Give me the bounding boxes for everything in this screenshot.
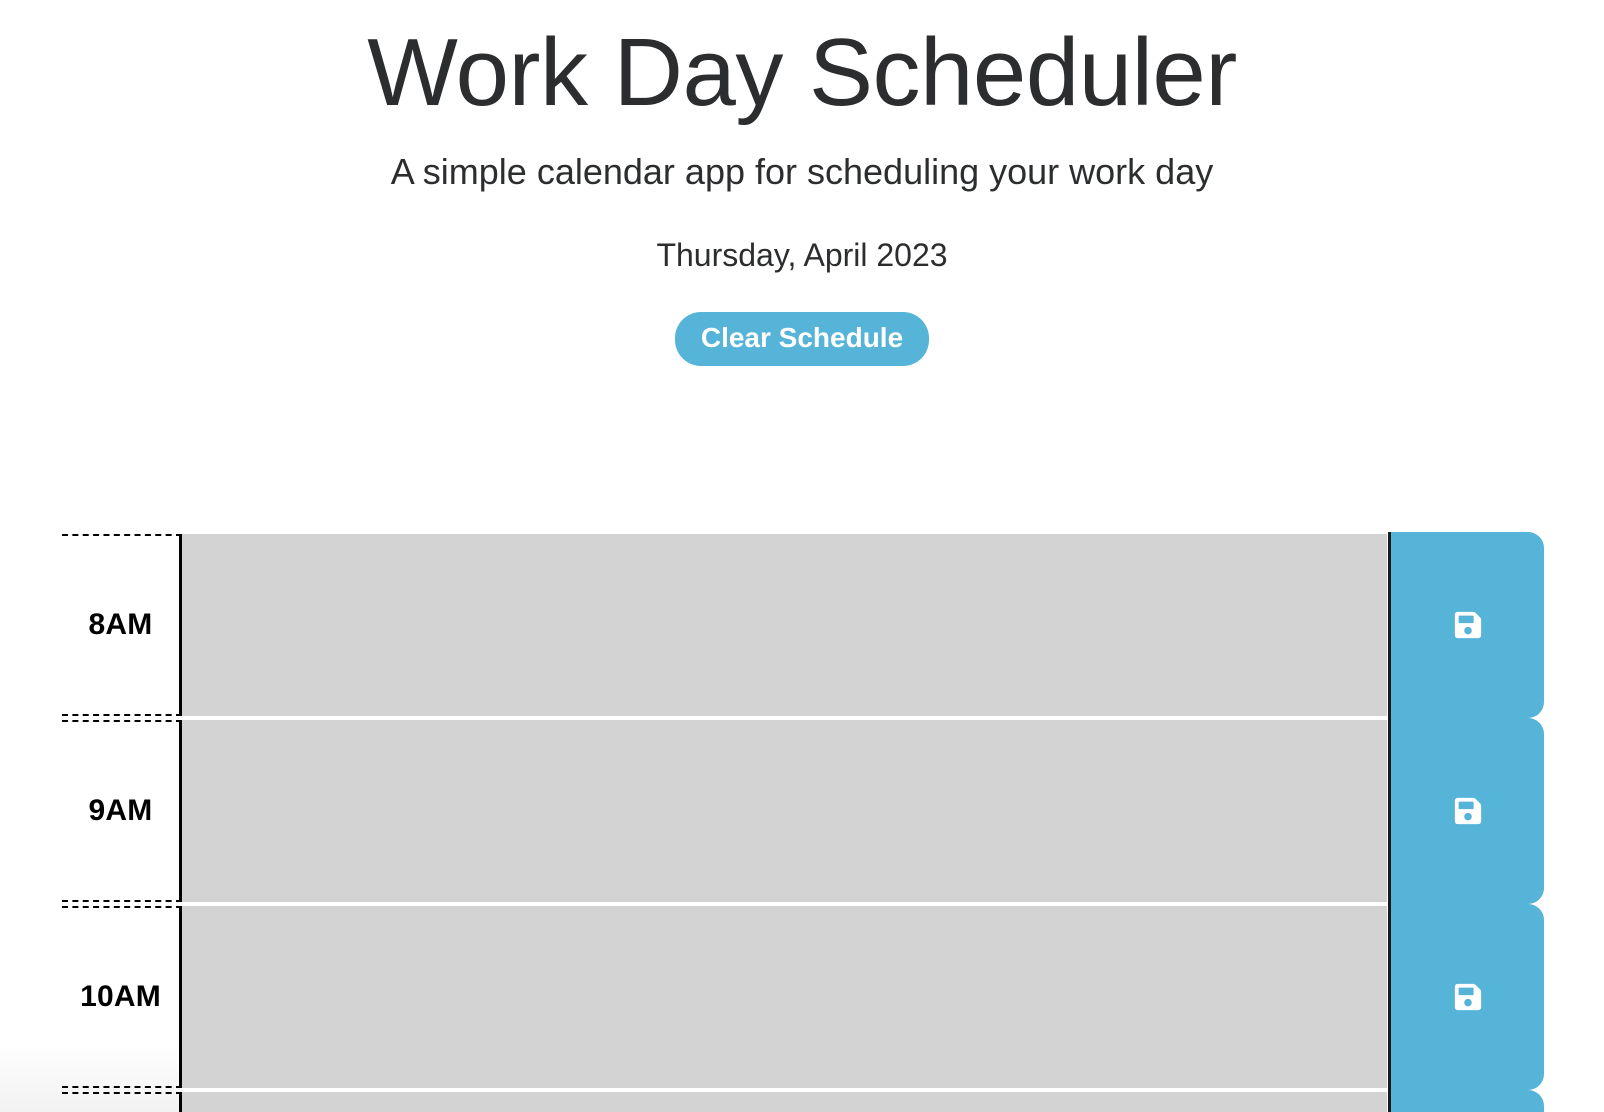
schedule-entry-input-11am[interactable] — [182, 1092, 1387, 1112]
hour-label-text: 8AM — [89, 608, 153, 642]
hour-label: 11AM — [62, 1092, 182, 1112]
schedule-container: 8AM 9AM 10AM — [62, 534, 1544, 1112]
hour-label-text: 9AM — [89, 794, 153, 828]
clear-schedule-button[interactable]: Clear Schedule — [675, 312, 929, 366]
clear-button-row: Clear Schedule — [0, 274, 1604, 366]
save-button-11am[interactable] — [1388, 1090, 1544, 1112]
hour-label-text: 10AM — [80, 980, 161, 1014]
save-button-8am[interactable] — [1388, 532, 1544, 718]
save-icon — [1453, 982, 1483, 1012]
save-icon — [1453, 796, 1483, 826]
time-block-10am: 10AM — [62, 906, 1544, 1088]
page-title: Work Day Scheduler — [0, 18, 1604, 128]
schedule-entry-input-9am[interactable] — [182, 720, 1387, 902]
time-block-8am: 8AM — [62, 534, 1544, 716]
work-day-scheduler-page: Work Day Scheduler A simple calendar app… — [0, 0, 1604, 1112]
time-block-9am: 9AM — [62, 720, 1544, 902]
time-block-11am: 11AM — [62, 1092, 1544, 1112]
hour-label: 9AM — [62, 720, 182, 902]
schedule-entry-input-8am[interactable] — [182, 534, 1387, 716]
schedule-entry-input-10am[interactable] — [182, 906, 1387, 1088]
hour-label: 10AM — [62, 906, 182, 1088]
save-button-9am[interactable] — [1388, 718, 1544, 904]
save-icon — [1453, 610, 1483, 640]
page-subtitle: A simple calendar app for scheduling you… — [0, 128, 1604, 193]
hour-label: 8AM — [62, 534, 182, 716]
current-day-text: Thursday, April 2023 — [0, 194, 1604, 274]
page-header: Work Day Scheduler A simple calendar app… — [0, 0, 1604, 366]
save-button-10am[interactable] — [1388, 904, 1544, 1090]
